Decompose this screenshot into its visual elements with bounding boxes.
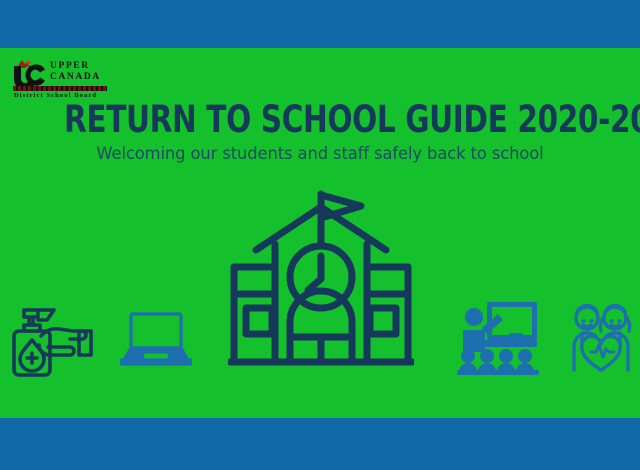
page-subtitle: Welcoming our students and staff safely …	[13, 143, 627, 165]
laptop-icon	[120, 310, 192, 366]
logo-divider-rule	[13, 86, 107, 91]
top-blue-band	[0, 0, 640, 48]
return-to-school-poster: UPPER CANADA District School Board RETUR…	[0, 0, 640, 470]
hand-sanitizer-icon	[10, 300, 94, 380]
logo-wordmark: UPPER CANADA	[50, 61, 112, 83]
logo-line-upper: UPPER	[50, 61, 112, 72]
classroom-teacher-icon	[457, 300, 539, 376]
school-building-icon	[228, 182, 414, 372]
page-title: RETURN TO SCHOOL GUIDE 2020-2021	[64, 100, 576, 140]
logo-line-canada: CANADA	[50, 72, 112, 83]
bottom-blue-band	[0, 418, 640, 470]
school-board-logo: UPPER CANADA District School Board	[12, 56, 112, 104]
students-heart-icon	[568, 300, 634, 376]
